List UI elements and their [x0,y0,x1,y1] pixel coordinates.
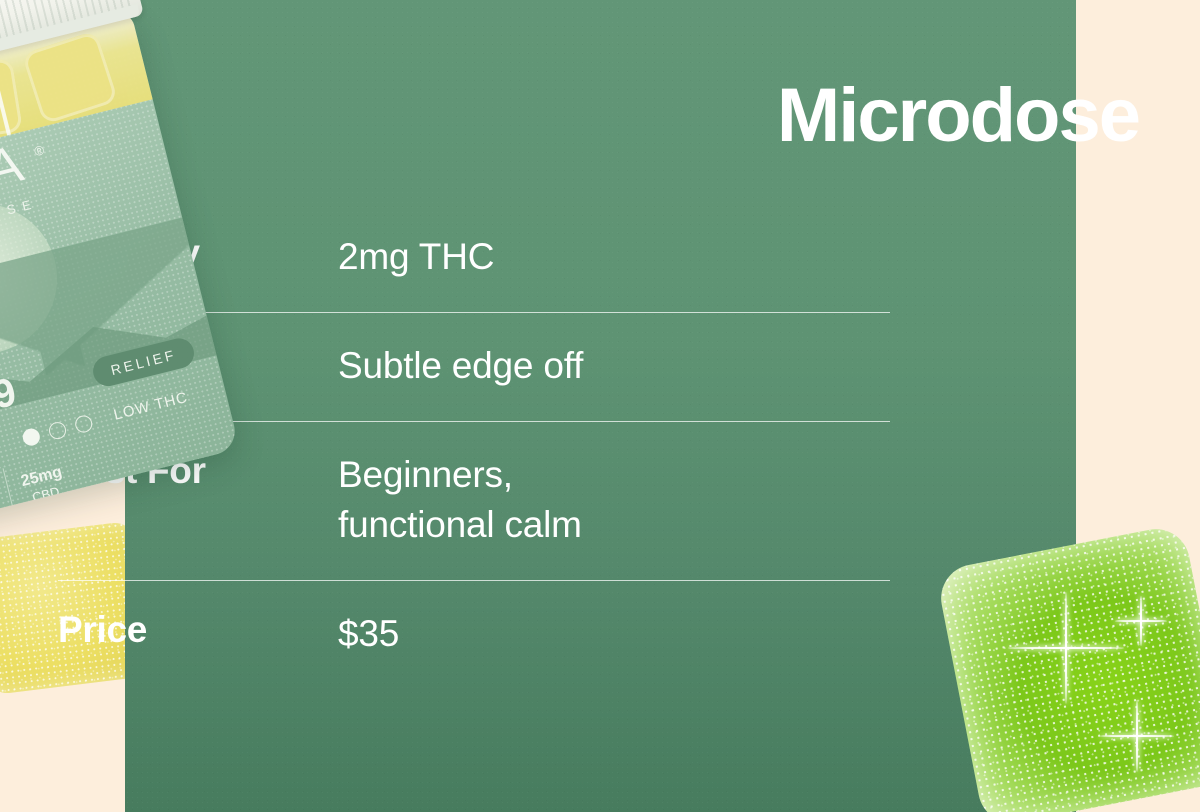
dark-green-arc-decor [125,0,785,70]
product-card-canvas: Microdose Potency 2mg THC Feel Subtle ed… [0,0,1200,812]
spec-value-potency: 2mg THC [338,232,890,282]
spec-label-price: Price [58,609,338,650]
jar-gummy [0,58,23,143]
jar-gummy [21,30,118,124]
spec-value-feel: Subtle edge off [338,341,890,391]
page-title: Microdose [777,78,1139,154]
table-row: Price $35 [58,580,890,689]
spec-value-price: $35 [338,609,890,659]
green-sugar-gummy-decor [935,523,1200,812]
spec-value-best-for: Beginners, functional calm [338,450,890,550]
